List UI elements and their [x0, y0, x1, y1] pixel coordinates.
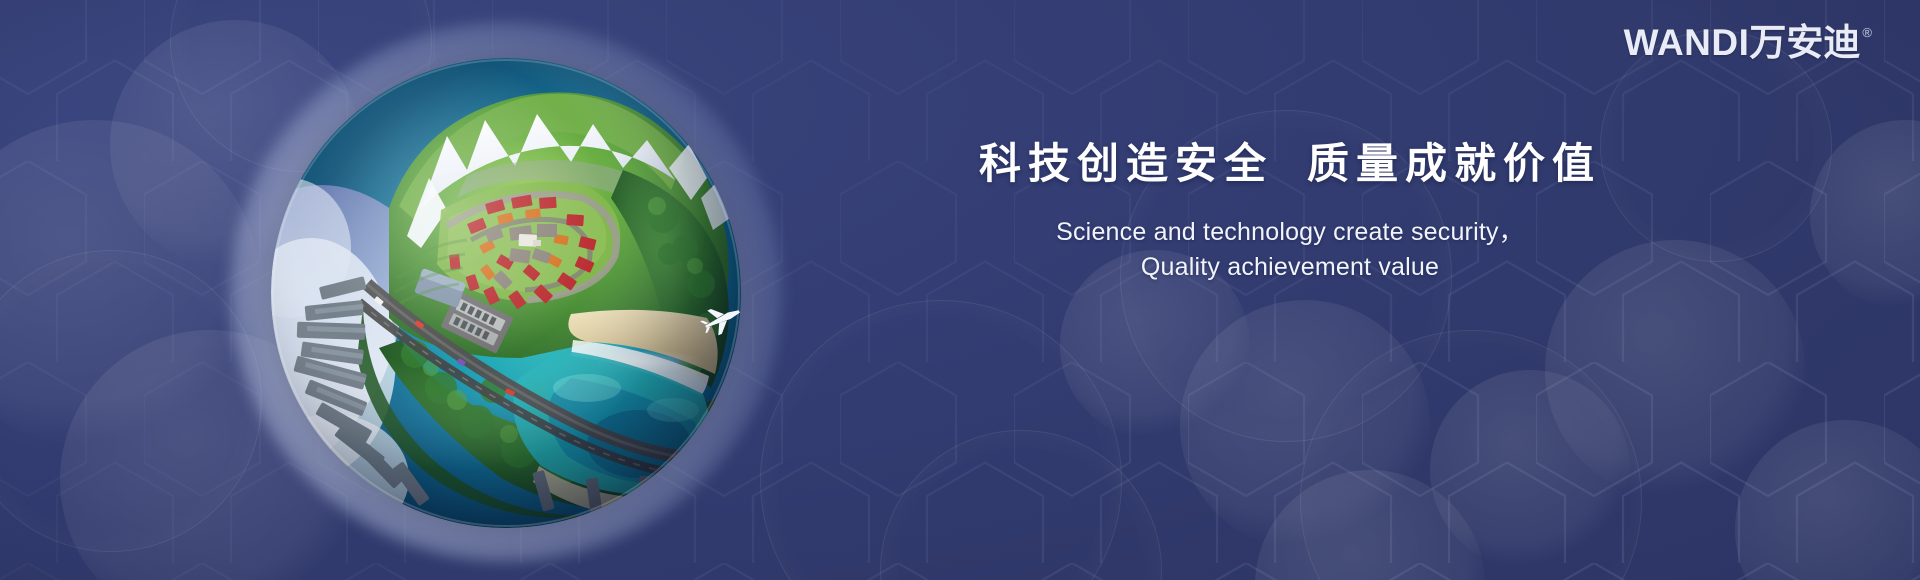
- logo-chinese-text: 万安迪: [1749, 24, 1860, 61]
- marketing-banner: WANDI 万安迪 ® 科技创造安全质量成就价值 Science and tec…: [0, 0, 1920, 580]
- subtitle-line-2: Quality achievement value: [905, 250, 1675, 286]
- tiny-planet-globe: [271, 58, 741, 528]
- headline-phrase-left: 科技创造安全: [979, 139, 1273, 188]
- logo-latin-text: WANDI: [1624, 24, 1750, 61]
- subtitle-line-1: Science and technology create security，: [1056, 218, 1524, 246]
- subtitle: Science and technology create security， …: [905, 215, 1675, 286]
- copy-block: 科技创造安全质量成就价值 Science and technology crea…: [905, 140, 1675, 286]
- headline-phrase-right: 质量成就价值: [1307, 139, 1601, 188]
- registered-trademark-icon: ®: [1862, 26, 1872, 39]
- globe-artwork: [248, 34, 762, 548]
- headline: 科技创造安全质量成就价值: [905, 140, 1675, 189]
- airplane-icon: [700, 302, 746, 336]
- brand-logo[interactable]: WANDI 万安迪 ®: [1624, 24, 1872, 61]
